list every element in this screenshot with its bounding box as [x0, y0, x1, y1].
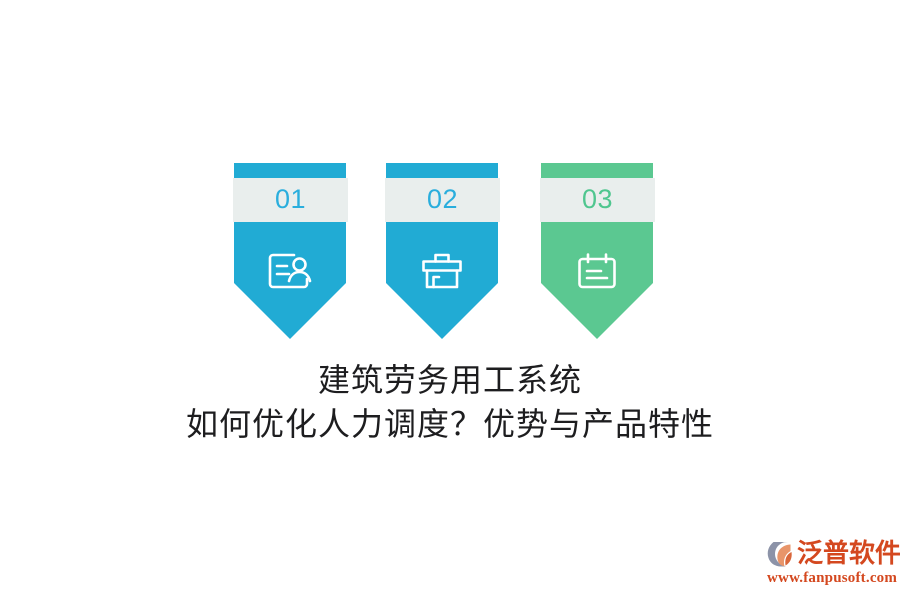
pennant-group: 01	[234, 163, 654, 339]
pennant-number-band-02: 02	[385, 178, 500, 222]
notepad-icon	[541, 245, 653, 297]
pennant-number-band-01: 01	[233, 178, 348, 222]
poster-canvas: 01	[0, 0, 900, 600]
fanpu-swoosh-logo-icon	[766, 539, 796, 569]
pennant-item-02[interactable]: 02	[386, 163, 498, 339]
pennant-item-01[interactable]: 01	[234, 163, 346, 339]
pennant-number-band-03: 03	[540, 178, 655, 222]
id-card-person-icon	[234, 245, 346, 297]
poster-title: 建筑劳务用工系统 如何优化人力调度？优势与产品特性	[0, 358, 900, 446]
pennant-item-03[interactable]: 03	[541, 163, 653, 339]
pennant-number-03: 03	[582, 186, 613, 214]
brand-logo[interactable]: 泛普软件 www.fanpusoft.com	[766, 537, 896, 591]
brand-logo-row: 泛普软件	[766, 537, 900, 571]
title-line-1: 建筑劳务用工系统	[0, 358, 900, 402]
brand-url: www.fanpusoft.com	[767, 570, 897, 587]
storefront-icon	[386, 245, 498, 297]
brand-name: 泛普软件	[797, 541, 900, 567]
pennant-number-01: 01	[275, 186, 306, 214]
title-line-2: 如何优化人力调度？优势与产品特性	[0, 402, 900, 446]
pennant-number-02: 02	[427, 186, 458, 214]
